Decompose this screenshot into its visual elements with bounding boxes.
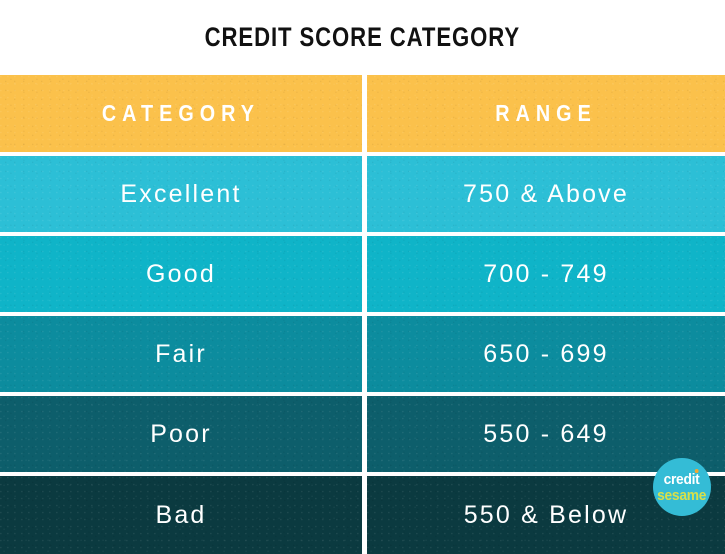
table-row: Good 700 - 749: [0, 236, 725, 312]
cell-range: 750 & Above: [367, 156, 725, 232]
page-title: CREDIT SCORE CATEGORY: [205, 22, 520, 53]
credit-sesame-logo[interactable]: credit sesame: [653, 458, 711, 516]
cell-category: Excellent: [0, 156, 362, 232]
category-value: Fair: [155, 340, 207, 369]
header-cell-range: RANGE: [367, 75, 725, 152]
category-value: Poor: [150, 420, 212, 449]
range-value: 550 - 649: [483, 420, 608, 449]
table-row: Fair 650 - 699: [0, 316, 725, 392]
logo-text-credit: credit: [664, 472, 700, 487]
category-value: Excellent: [120, 180, 241, 209]
range-value: 700 - 749: [483, 260, 608, 289]
category-value: Bad: [155, 501, 206, 530]
cell-category: Fair: [0, 316, 362, 392]
cell-range: 700 - 749: [367, 236, 725, 312]
cell-category: Bad: [0, 476, 362, 554]
logo-text-sesame: sesame: [658, 488, 707, 503]
cell-range: 650 - 699: [367, 316, 725, 392]
title-container: CREDIT SCORE CATEGORY: [0, 0, 725, 75]
range-value: 650 - 699: [483, 340, 608, 369]
table-row: Poor 550 - 649: [0, 396, 725, 472]
range-value: 550 & Below: [464, 501, 629, 530]
credit-score-category-infographic: CREDIT SCORE CATEGORY CATEGORY RANGE Exc…: [0, 0, 725, 529]
cell-category: Poor: [0, 396, 362, 472]
table-header-row: CATEGORY RANGE: [0, 75, 725, 152]
header-label-range: RANGE: [495, 100, 597, 127]
range-value: 750 & Above: [463, 180, 629, 209]
header-label-category: CATEGORY: [102, 100, 260, 127]
logo-dot-icon: [695, 469, 698, 473]
cell-category: Good: [0, 236, 362, 312]
category-value: Good: [146, 260, 216, 289]
credit-score-table: CATEGORY RANGE Excellent 750 & Above Goo…: [0, 75, 725, 529]
table-row: Bad 550 & Below: [0, 476, 725, 554]
header-cell-category: CATEGORY: [0, 75, 362, 152]
table-row: Excellent 750 & Above: [0, 156, 725, 232]
logo-credit-label: credit: [664, 471, 700, 488]
